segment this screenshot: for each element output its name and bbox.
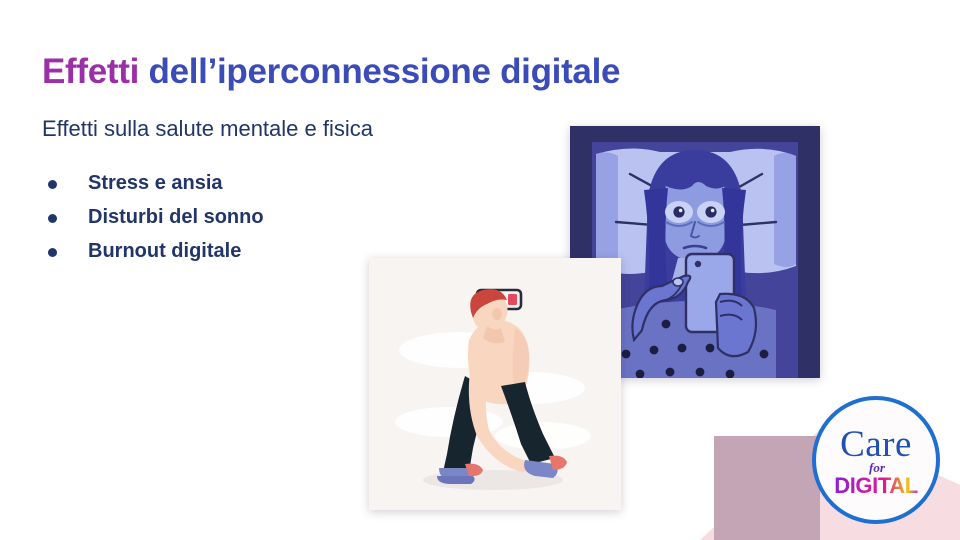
bullet-dot-icon xyxy=(48,180,57,189)
logo-care-text: Care xyxy=(840,426,912,463)
mauve-rectangle-shape xyxy=(714,436,820,540)
care-for-digital-logo[interactable]: Care for DIGITAL xyxy=(812,396,940,524)
page-subtitle: Effetti sulla salute mentale e fisica xyxy=(42,116,373,142)
burnout-illustration-svg xyxy=(369,258,621,510)
logo-digital-text: DIGITAL xyxy=(834,475,918,497)
title-accent-word: Effetti xyxy=(42,52,139,91)
list-item-label: Stress e ansia xyxy=(88,172,223,194)
page-title: Effetti dell’iperconnessione digitale xyxy=(42,52,620,92)
list-item-label: Burnout digitale xyxy=(88,240,241,262)
bullet-dot-icon xyxy=(48,248,57,257)
title-main-text: dell’iperconnessione digitale xyxy=(139,52,620,91)
exhausted-walking-man-illustration xyxy=(369,258,621,510)
list-item: Stress e ansia xyxy=(42,172,264,195)
list-item: Disturbi del sonno xyxy=(42,206,264,229)
effects-bullet-list: Stress e ansia Disturbi del sonno Burnou… xyxy=(42,172,264,274)
list-item: Burnout digitale xyxy=(42,240,264,263)
bullet-dot-icon xyxy=(48,214,57,223)
slide-canvas: Effetti dell’iperconnessione digitale Ef… xyxy=(0,0,960,540)
logo-for-text: for xyxy=(869,461,885,474)
list-item-label: Disturbi del sonno xyxy=(88,206,264,228)
